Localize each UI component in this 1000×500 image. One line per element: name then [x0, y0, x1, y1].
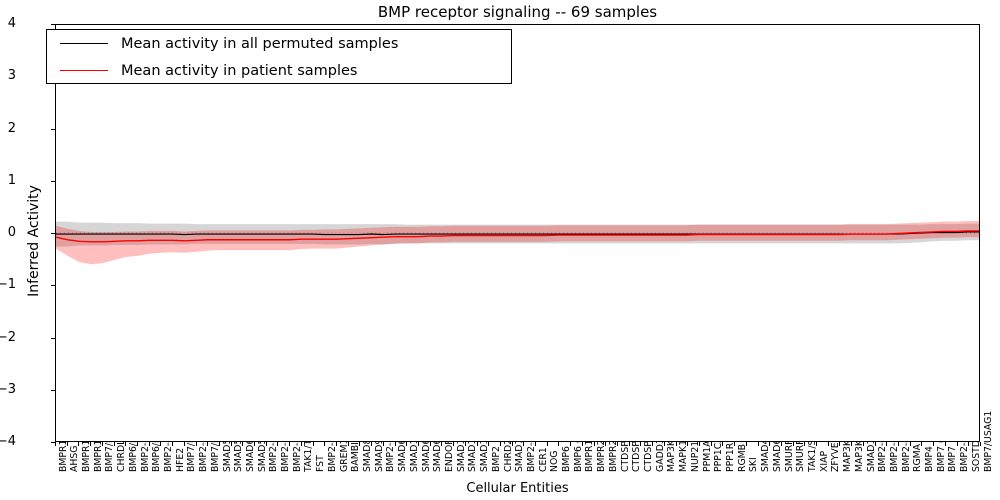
x-tick-label: FST [316, 455, 325, 472]
legend-item-permuted: Mean activity in all permuted samples [47, 30, 511, 57]
x-tick-label: SMAD5 [258, 439, 267, 472]
y-tick-label: 1 [0, 173, 16, 188]
x-tick-label: BAMBI [351, 442, 360, 472]
y-tick-label: −2 [0, 330, 16, 345]
y-tick-label: 0 [0, 225, 16, 240]
x-axis-label: Cellular Entities [55, 481, 980, 496]
y-tick-label: −1 [0, 277, 16, 292]
x-tick-label: HFE2 [176, 448, 185, 472]
y-tick-label: 3 [0, 68, 16, 83]
legend-line-red [60, 70, 108, 71]
legend-label-permuted: Mean activity in all permuted samples [121, 36, 398, 52]
x-tick-label: PPM1A [703, 440, 712, 472]
x-tick-label: CHRD2 [504, 439, 513, 472]
x-tick-label: NOG [550, 451, 559, 472]
x-tick-mark [828, 442, 829, 446]
legend-label-patient: Mean activity in patient samples [121, 63, 357, 79]
chart-title: BMP receptor signaling -- 69 samples [55, 3, 980, 21]
x-tick-label: GREM1 [340, 439, 349, 472]
plot-lines [56, 25, 979, 441]
x-tick-label: SMAD4 [761, 439, 770, 472]
y-tick-label: 2 [0, 121, 16, 136]
x-tick-label: CER1 [539, 447, 548, 472]
x-tick-mark [55, 442, 56, 446]
x-tick-label: SMAD1 [867, 439, 876, 472]
x-tick-label: BMP4 [925, 446, 934, 472]
x-tick-mark [558, 442, 559, 446]
x-tick-label: BMP7 [948, 446, 957, 472]
x-tick-label: AHSG [70, 446, 79, 472]
y-tick-label: −4 [0, 434, 16, 449]
x-tick-label: BMP7/USAG1 [984, 411, 993, 472]
x-tick-label: BMP2 [492, 446, 501, 472]
x-tick-label: RGMA [913, 444, 922, 472]
x-tick-label: SMAD6 [433, 439, 442, 472]
y-tick-label: 4 [0, 16, 16, 31]
x-tick-label: SKI [749, 457, 758, 472]
x-tick-label: RGMB [738, 444, 747, 472]
x-tick-mark [324, 442, 325, 446]
x-tick-label: XIAP [820, 451, 829, 472]
figure: BMP receptor signaling -- 69 samples Inf… [0, 0, 1000, 500]
x-tick-mark [758, 442, 759, 446]
y-tick-label: −3 [0, 382, 16, 397]
legend: Mean activity in all permuted samples Me… [46, 29, 512, 84]
plot-area [55, 24, 980, 442]
legend-item-patient: Mean activity in patient samples [47, 57, 511, 84]
y-axis-label: Inferred Activity [26, 111, 42, 371]
x-tick-label: SMAD9 [375, 439, 384, 472]
x-tick-mark [547, 442, 548, 446]
x-tick-label: MAPK1 [679, 440, 688, 472]
x-tick-mark [184, 442, 185, 446]
x-tick-label: BMPR2 [597, 440, 606, 472]
legend-line-black [60, 43, 108, 44]
x-tick-label: BMP6 [562, 446, 571, 472]
